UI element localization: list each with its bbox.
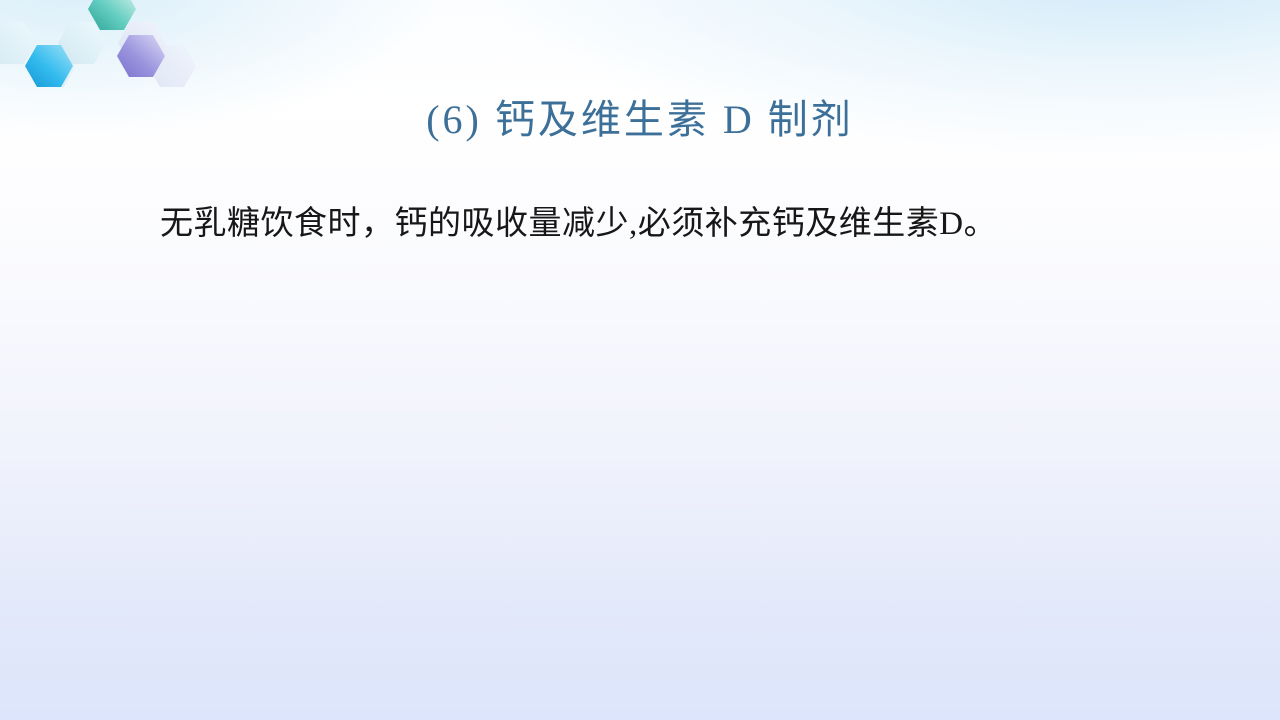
slide-title: (6) 钙及维生素 D 制剂 [0, 92, 1280, 148]
hexagon-cluster-decoration [0, 0, 200, 95]
slide-canvas: (6) 钙及维生素 D 制剂 无乳糖饮食时，钙的吸收量减少,必须补充钙及维生素D… [0, 0, 1280, 720]
slide-content-area [130, 190, 1150, 670]
slide-body-paragraph: 无乳糖饮食时，钙的吸收量减少,必须补充钙及维生素D。 [160, 200, 1140, 248]
